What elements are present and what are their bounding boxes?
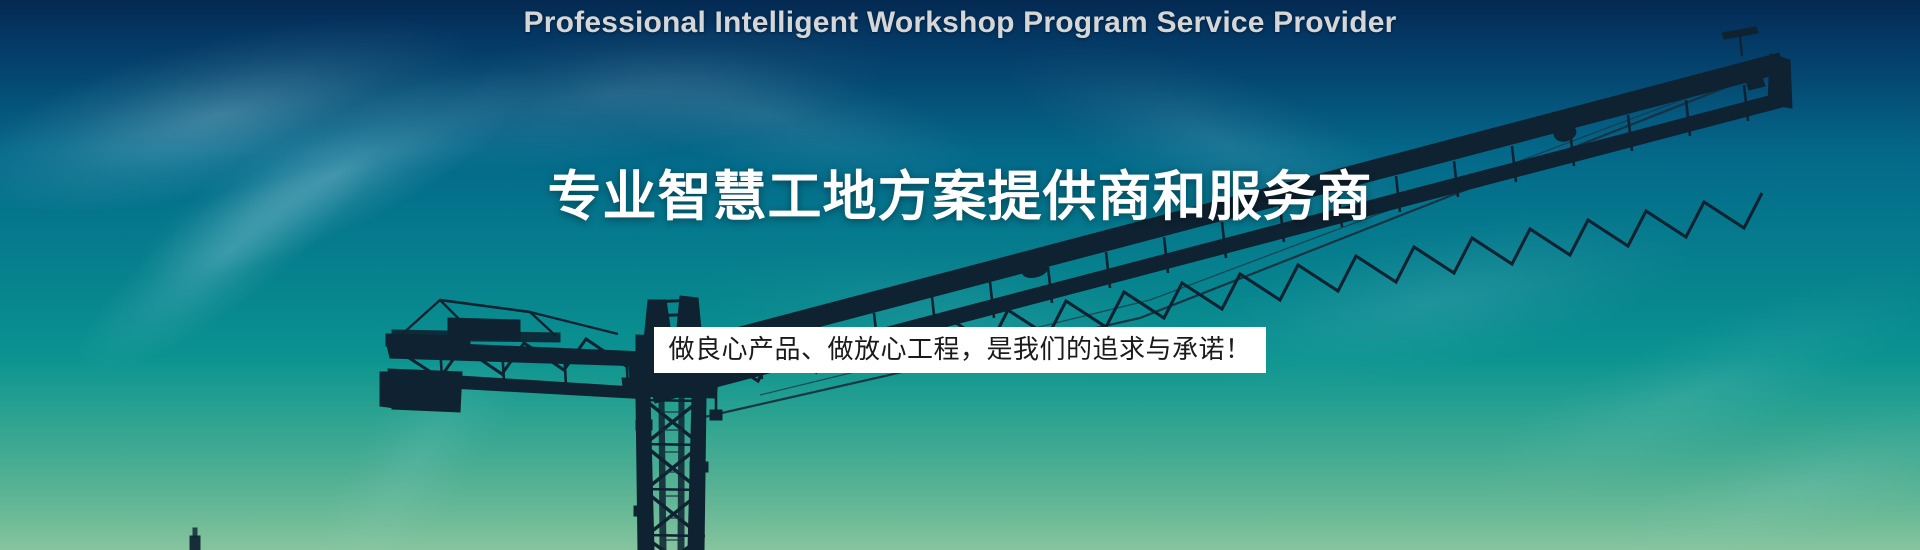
page-title: 专业智慧工地方案提供商和服务商 bbox=[0, 152, 1920, 231]
english-headline: Professional Intelligent Workshop Progra… bbox=[0, 6, 1920, 40]
slogan-container: 做良心产品、做放心工程，是我们的追求与承诺！ bbox=[0, 327, 1920, 373]
sky-gradient-background bbox=[0, 0, 1920, 550]
slogan-badge: 做良心产品、做放心工程，是我们的追求与承诺！ bbox=[654, 327, 1265, 373]
hero-banner: Professional Intelligent Workshop Progra… bbox=[0, 0, 1920, 550]
